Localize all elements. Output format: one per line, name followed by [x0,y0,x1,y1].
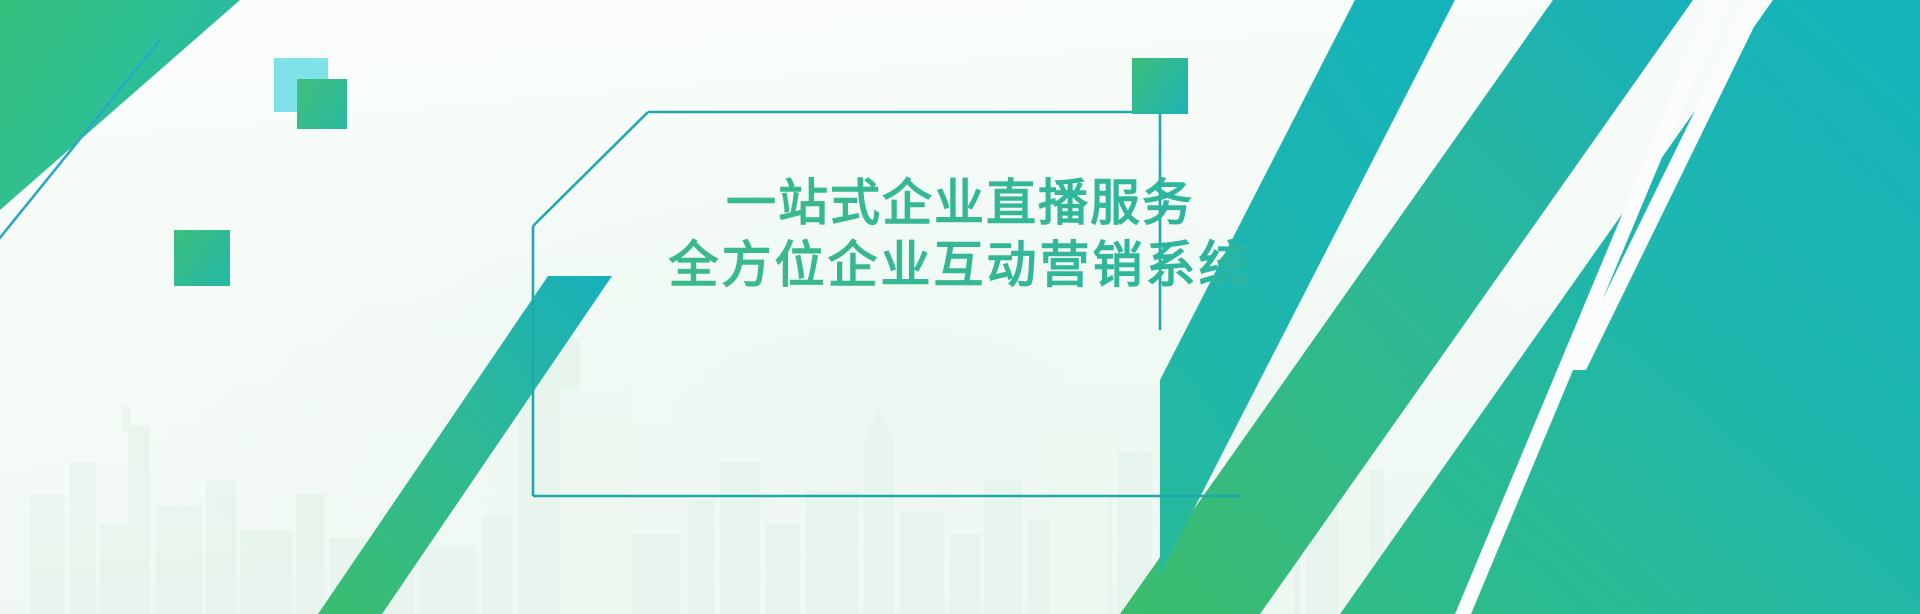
corner-accent-line [0,0,260,250]
green-square-top-right [1132,58,1188,114]
diagonal-stripe-group [1160,0,1920,614]
promo-banner: 一站式企业直播服务 全方位企业互动营销系统 [0,0,1920,614]
green-square-left [174,230,230,286]
green-square-small [297,79,347,129]
